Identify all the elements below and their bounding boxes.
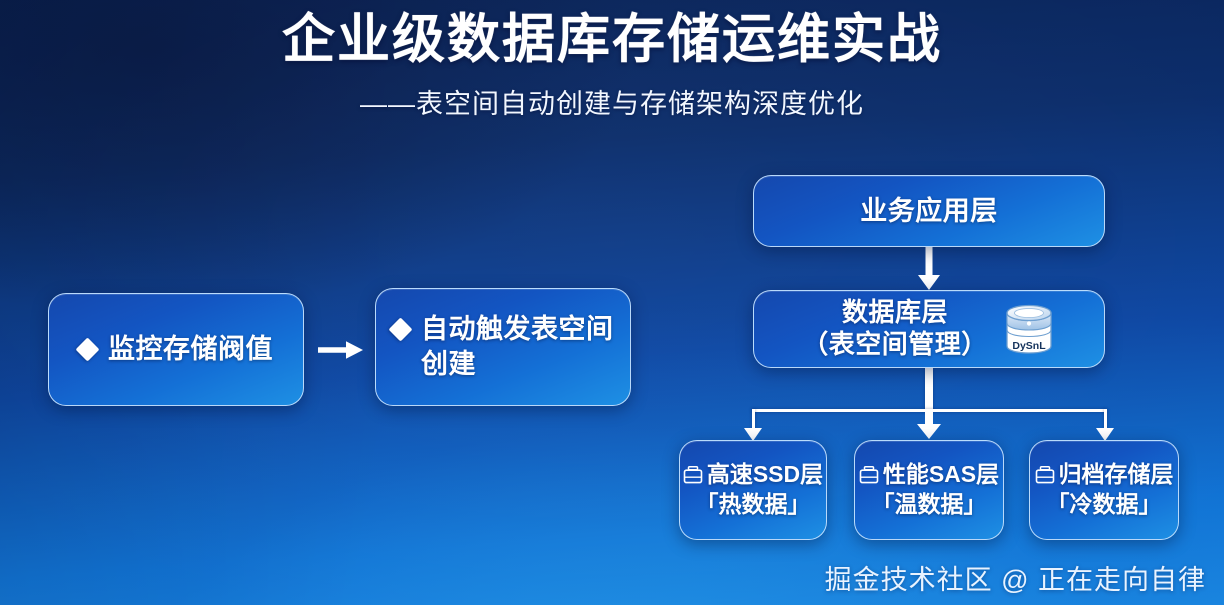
storage-tier-archive[interactable]: 归档存储层 「冷数据」 — [1029, 440, 1179, 540]
trigger-content: 自动触发表空间创建 — [376, 312, 630, 381]
arch-db-layer-label: 数据库层 （表空间管理） — [802, 297, 988, 360]
tier-archive-name: 归档存储层 — [1059, 461, 1174, 489]
tier-ssd-title: 高速SSD层 — [683, 461, 823, 489]
arrow-right-icon — [318, 340, 364, 360]
database-icon-label: DySnL — [1012, 340, 1046, 352]
database-cylinder-icon: DySnL — [1002, 304, 1056, 354]
tier-ssd-name: 高速SSD层 — [707, 461, 823, 489]
arch-box-database-layer[interactable]: 数据库层 （表空间管理） — [753, 290, 1105, 368]
storage-tier-ssd[interactable]: 高速SSD层 「热数据」 — [679, 440, 827, 540]
flow-box-monitor-threshold[interactable]: 监控存储阀值 — [48, 293, 304, 406]
arch-app-layer-label: 业务应用层 — [860, 194, 998, 229]
arrow-down-app-to-db-icon — [913, 247, 945, 291]
storage-tier-sas[interactable]: 性能SAS层 「温数据」 — [854, 440, 1004, 540]
diamond-bullet-icon — [75, 338, 99, 362]
tier-sas-title: 性能SAS层 — [859, 461, 999, 489]
slide-header: 企业级数据库存储运维实战 ——表空间自动创建与存储架构深度优化 — [0, 12, 1224, 121]
connector-trunk — [925, 368, 933, 412]
flow-box-trigger-label: 自动触发表空间创建 — [421, 312, 614, 381]
slide-canvas: 企业级数据库存储运维实战 ——表空间自动创建与存储架构深度优化 监控存储阀值 自… — [0, 0, 1224, 605]
arch-db-layer-line2: （表空间管理） — [802, 329, 988, 361]
watermark-text: 掘金技术社区 @ 正在走向自律 — [825, 558, 1206, 597]
flow-box-auto-trigger[interactable]: 自动触发表空间创建 — [375, 288, 631, 406]
monitor-content: 监控存储阀值 — [63, 332, 289, 367]
arch-box-application-layer[interactable]: 业务应用层 — [753, 175, 1105, 247]
tier-sas-data: 「温数据」 — [872, 490, 987, 519]
tier-sas-name: 性能SAS层 — [883, 461, 999, 489]
tier-archive-title: 归档存储层 — [1035, 461, 1174, 489]
page-subtitle: ——表空间自动创建与存储架构深度优化 — [0, 82, 1224, 121]
page-title: 企业级数据库存储运维实战 — [0, 12, 1224, 68]
file-box-icon — [859, 465, 879, 485]
tier-archive-data: 「冷数据」 — [1047, 490, 1162, 519]
db-layer-content: 数据库层 （表空间管理） — [754, 297, 1104, 360]
file-box-icon — [683, 465, 703, 485]
arrow-down-sas-icon — [914, 410, 944, 440]
diamond-bullet-icon — [388, 318, 412, 342]
file-box-icon — [1035, 465, 1055, 485]
arch-db-layer-line1: 数据库层 — [802, 297, 988, 329]
flow-box-monitor-label: 监控存储阀值 — [108, 332, 273, 367]
tier-ssd-data: 「热数据」 — [696, 490, 811, 519]
